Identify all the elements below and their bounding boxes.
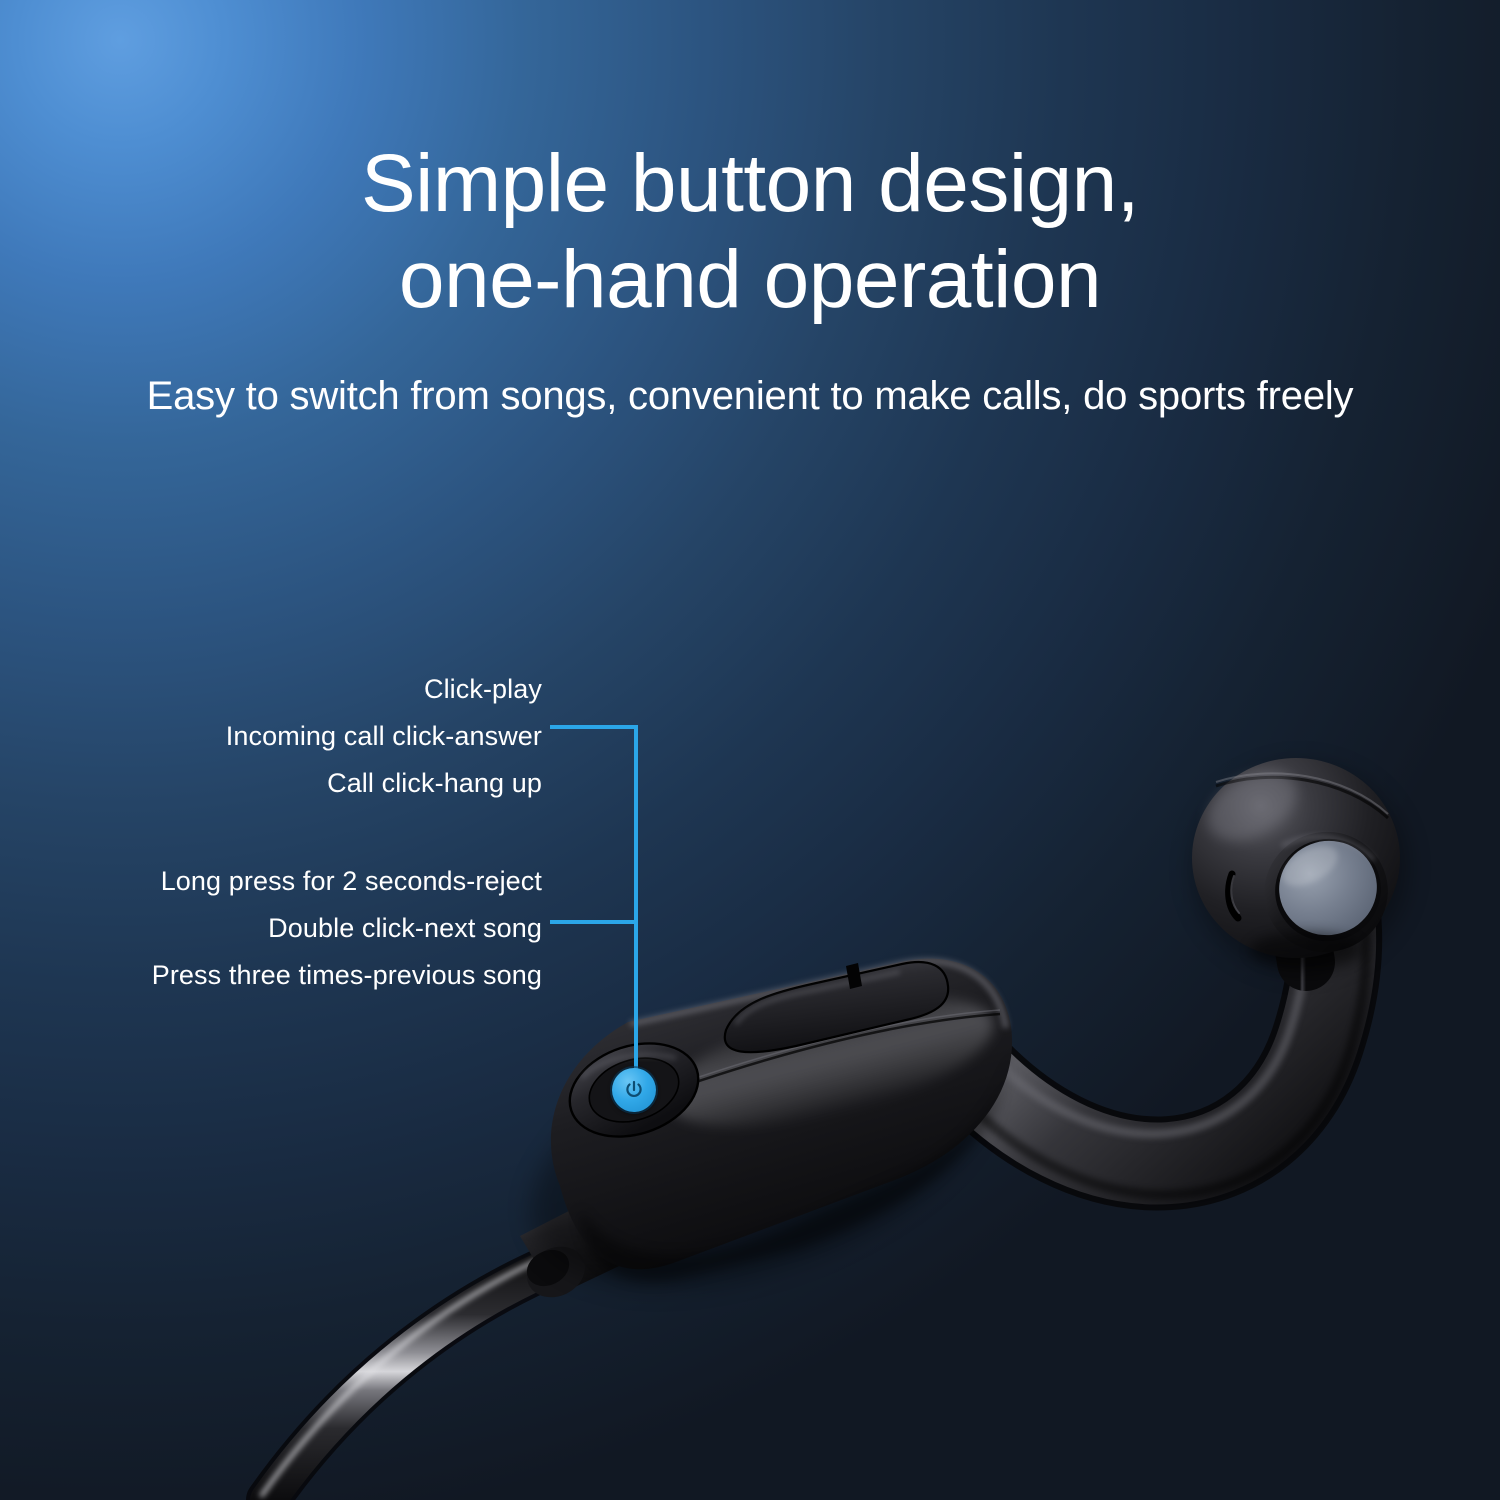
annotation-label: Long press for 2 seconds-reject: [60, 858, 542, 905]
annotation-label: Call click-hang up: [60, 760, 542, 807]
annotation-group-multi-click: Long press for 2 seconds-reject Double c…: [60, 858, 542, 999]
power-button[interactable]: [612, 1068, 656, 1112]
annotation-label: Double click-next song: [60, 905, 542, 952]
page-subtitle: Easy to switch from songs, convenient to…: [0, 374, 1500, 419]
leader-line-bottom-branch: [550, 920, 638, 924]
leader-line-top-branch: [550, 725, 638, 729]
annotation-group-single-click: Click-play Incoming call click-answer Ca…: [60, 666, 542, 807]
headline-block: Simple button design, one-hand operation: [0, 136, 1500, 328]
leader-line-vertical: [634, 725, 638, 1093]
cable: [262, 1252, 560, 1500]
annotation-label: Click-play: [60, 666, 542, 713]
annotation-label: Incoming call click-answer: [60, 713, 542, 760]
annotation-label: Press three times-previous song: [60, 952, 542, 999]
earbud-driver-unit: [1192, 757, 1408, 972]
product-feature-banner: Simple button design, one-hand operation…: [0, 0, 1500, 1500]
power-icon: [623, 1079, 645, 1101]
page-title: Simple button design, one-hand operation: [0, 136, 1500, 328]
